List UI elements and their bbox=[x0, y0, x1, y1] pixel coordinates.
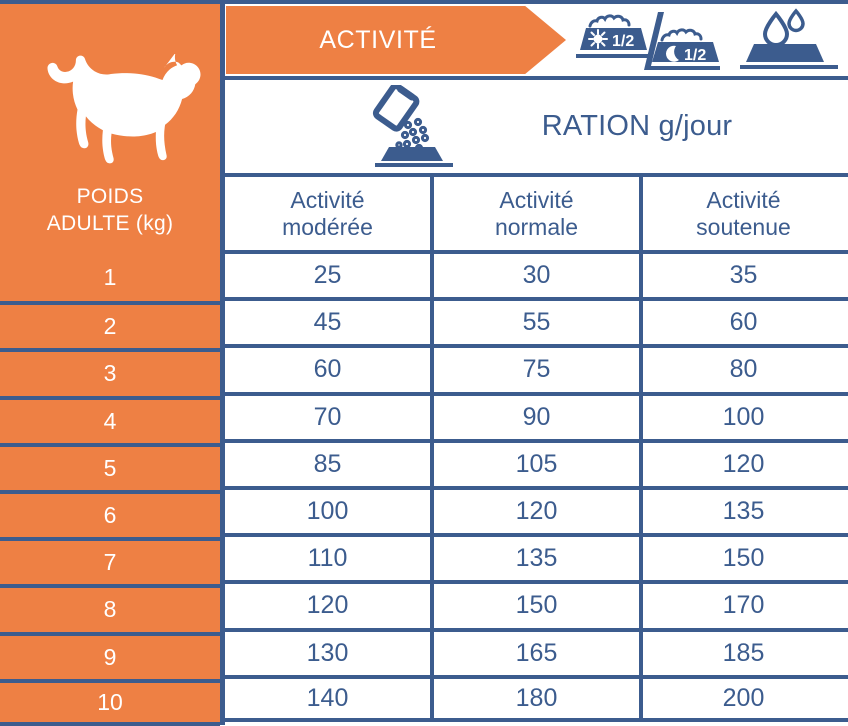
column-header-2: Activiténormale bbox=[430, 177, 639, 250]
table-row: 100120135 bbox=[225, 486, 848, 533]
weight-cell: 1 bbox=[0, 254, 220, 301]
ration-cell: 100 bbox=[225, 490, 430, 533]
weight-cell: 7 bbox=[0, 537, 220, 584]
weight-cell: 4 bbox=[0, 396, 220, 443]
table-row: 120150170 bbox=[225, 580, 848, 627]
weight-cell: 3 bbox=[0, 348, 220, 395]
svg-text:1/2: 1/2 bbox=[684, 47, 706, 64]
table-row: 253035 bbox=[225, 250, 848, 297]
ration-cell: 30 bbox=[430, 254, 639, 297]
ration-cell: 25 bbox=[225, 254, 430, 297]
column-header-3: Activitésoutenue bbox=[639, 177, 844, 250]
ration-cell: 85 bbox=[225, 443, 430, 486]
table-row: 7090100 bbox=[225, 392, 848, 439]
table-row: 110135150 bbox=[225, 533, 848, 580]
weight-cell: 8 bbox=[0, 584, 220, 631]
ration-cell: 105 bbox=[430, 443, 639, 486]
ration-cell: 60 bbox=[639, 301, 844, 344]
ration-cell: 140 bbox=[225, 679, 430, 718]
column-header-line2: soutenue bbox=[696, 214, 791, 241]
table-row: 455560 bbox=[225, 297, 848, 344]
svg-text:1/2: 1/2 bbox=[612, 33, 634, 50]
ration-cell: 100 bbox=[639, 396, 844, 439]
ration-band: RATION g/jour bbox=[226, 80, 848, 173]
table-row: 130165185 bbox=[225, 628, 848, 675]
activity-banner: ACTIVITÉ bbox=[226, 6, 566, 74]
ration-cell: 80 bbox=[639, 348, 844, 391]
table-row: 140180200 bbox=[225, 675, 848, 722]
table-row: 607580 bbox=[225, 344, 848, 391]
ration-cell: 120 bbox=[639, 443, 844, 486]
ration-cell: 130 bbox=[225, 632, 430, 675]
ration-cell: 135 bbox=[430, 537, 639, 580]
ration-cell: 110 bbox=[225, 537, 430, 580]
column-header-1: Activitémodérée bbox=[225, 177, 430, 250]
weight-header-line2: ADULTE (kg) bbox=[0, 210, 220, 237]
ration-grid: ActivitémodéréeActiviténormaleActivitéso… bbox=[225, 173, 848, 725]
dog-silhouette-icon bbox=[14, 54, 206, 166]
column-header-row: ActivitémodéréeActiviténormaleActivitéso… bbox=[225, 173, 848, 250]
ration-cell: 150 bbox=[430, 584, 639, 627]
activity-banner-label: ACTIVITÉ bbox=[319, 26, 472, 55]
sun-moon-half-ration-bowls-icon: 1/2 1/2 bbox=[576, 10, 722, 72]
weight-cell: 6 bbox=[0, 490, 220, 537]
ration-cell: 75 bbox=[430, 348, 639, 391]
ration-cell: 120 bbox=[430, 490, 639, 533]
weight-column-panel: POIDS ADULTE (kg) 12345678910 bbox=[0, 4, 220, 725]
ration-cell: 170 bbox=[639, 584, 844, 627]
water-bowl-droplets-icon bbox=[736, 6, 842, 74]
ration-cell: 150 bbox=[639, 537, 844, 580]
ration-cell: 120 bbox=[225, 584, 430, 627]
column-header-line2: normale bbox=[495, 214, 578, 241]
weight-cell: 2 bbox=[0, 301, 220, 348]
ration-cell: 45 bbox=[225, 301, 430, 344]
column-header-line2: modérée bbox=[282, 214, 373, 241]
feeding-guide-table: POIDS ADULTE (kg) 12345678910 ACTIVITÉ bbox=[0, 0, 848, 725]
weight-column-header: POIDS ADULTE (kg) bbox=[0, 183, 220, 237]
table-row: 85105120 bbox=[225, 439, 848, 486]
column-header-line1: Activité bbox=[696, 187, 791, 214]
ration-cell: 185 bbox=[639, 632, 844, 675]
header-icon-strip: 1/2 1/2 bbox=[566, 4, 848, 76]
ration-cell: 135 bbox=[639, 490, 844, 533]
ration-cell: 165 bbox=[430, 632, 639, 675]
column-header-line1: Activité bbox=[495, 187, 578, 214]
weight-values-column: 12345678910 bbox=[0, 254, 220, 726]
weight-cell: 9 bbox=[0, 632, 220, 679]
weight-cell: 5 bbox=[0, 443, 220, 490]
ration-cell: 200 bbox=[639, 679, 844, 718]
weight-header-line1: POIDS bbox=[0, 183, 220, 210]
ration-cell: 55 bbox=[430, 301, 639, 344]
weight-cell: 10 bbox=[0, 679, 220, 726]
ration-title: RATION g/jour bbox=[426, 80, 848, 173]
ration-cell: 70 bbox=[225, 396, 430, 439]
ration-cell: 35 bbox=[639, 254, 844, 297]
ration-cell: 90 bbox=[430, 396, 639, 439]
ration-cell: 60 bbox=[225, 348, 430, 391]
ration-cell: 180 bbox=[430, 679, 639, 718]
column-header-line1: Activité bbox=[282, 187, 373, 214]
